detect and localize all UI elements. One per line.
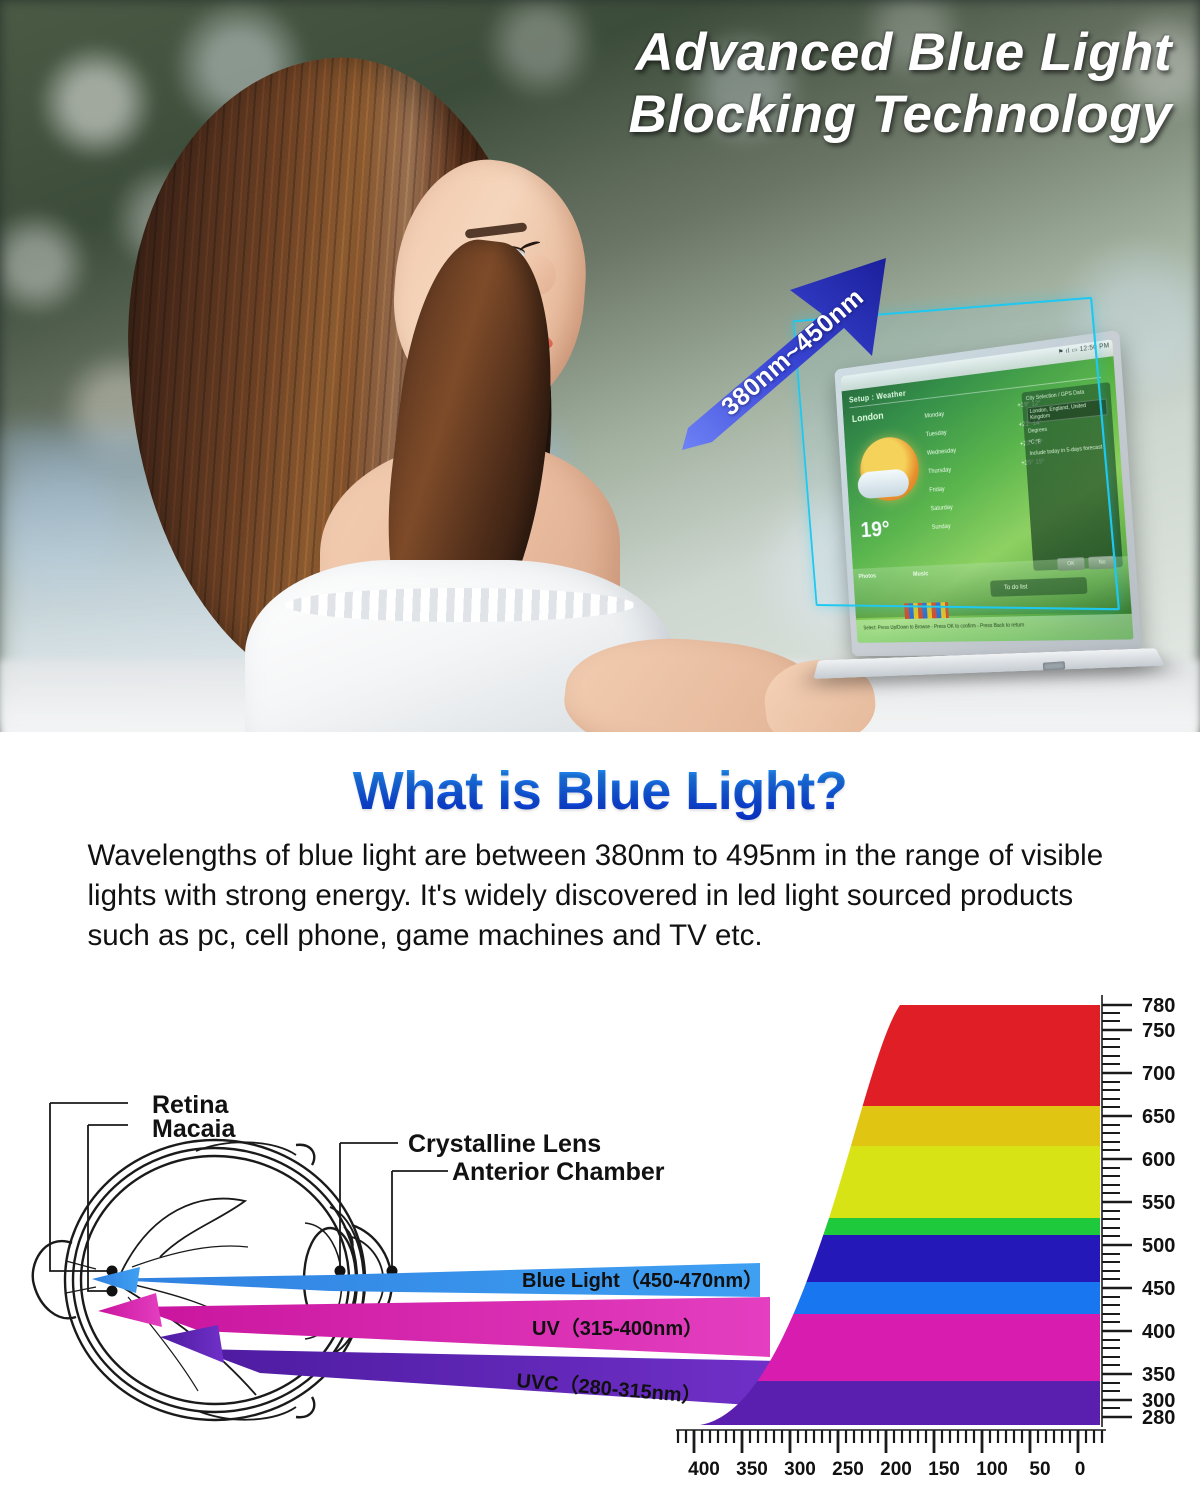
page-title: Advanced Blue Light Blocking Technology bbox=[472, 22, 1172, 146]
label-anterior-chamber: Anterior Chamber bbox=[452, 1158, 665, 1186]
y-tick-label: 650 bbox=[1142, 1106, 1175, 1128]
band-violet bbox=[690, 1381, 1110, 1425]
beam-label-uv: UV（315-400nm） bbox=[532, 1317, 703, 1340]
blue-light-arrow: 380nm~450nm bbox=[672, 252, 922, 472]
beam-label-blue-light: Blue Light（450-470nm） bbox=[522, 1269, 763, 1292]
y-axis bbox=[1102, 995, 1132, 1427]
x-tick-label: 50 bbox=[1029, 1459, 1050, 1480]
retinal-vessel-4 bbox=[132, 1246, 248, 1267]
hero-photo-banner: ⚑ ıl ▭ 12:50 PM Setup : Weather London 1… bbox=[0, 0, 1200, 732]
label-macaia: Macaia bbox=[152, 1115, 236, 1143]
band-yellow bbox=[690, 1146, 1110, 1218]
band-green bbox=[690, 1218, 1110, 1235]
x-tick-labels: 400 350 300 250 200 150 100 50 0 bbox=[688, 1459, 1085, 1480]
leader-macaia bbox=[88, 1125, 112, 1291]
screen-footer-hint: Select: Press Up/Down to Browse - Press … bbox=[856, 614, 1133, 643]
y-tick-label: 600 bbox=[1142, 1149, 1175, 1171]
y-tick-label: 280 bbox=[1142, 1407, 1175, 1429]
band-red bbox=[690, 1005, 1110, 1106]
x-tick-label: 150 bbox=[928, 1459, 960, 1480]
x-tick-label: 300 bbox=[784, 1459, 816, 1480]
x-major-ticks bbox=[694, 1430, 1078, 1453]
headline-line-1: Advanced Blue Light bbox=[472, 22, 1172, 84]
y-tick-label: 550 bbox=[1142, 1192, 1175, 1214]
uv-arrowhead bbox=[98, 1293, 162, 1327]
usb-port bbox=[1043, 661, 1066, 671]
y-tick-label: 750 bbox=[1142, 1020, 1175, 1042]
label-crystalline-lens: Crystalline Lens bbox=[408, 1130, 601, 1158]
x-tick-label: 100 bbox=[976, 1459, 1008, 1480]
y-tick-label: 780 bbox=[1142, 995, 1175, 1017]
section-heading: What is Blue Light? bbox=[0, 732, 1200, 822]
x-tick-label: 0 bbox=[1075, 1459, 1086, 1480]
x-tick-label: 400 bbox=[688, 1459, 720, 1480]
muscle-bottom bbox=[296, 1397, 314, 1417]
y-tick-label: 350 bbox=[1142, 1364, 1175, 1386]
y-tick-label: 450 bbox=[1142, 1278, 1175, 1300]
blouse-ruffle bbox=[285, 588, 635, 622]
x-tick-label: 200 bbox=[880, 1459, 912, 1480]
section-body-text: Wavelengths of blue light are between 38… bbox=[88, 836, 1113, 956]
dot-macaia bbox=[107, 1286, 118, 1297]
y-tick-labels: 780 750 700 650 600 550 500 450 400 350 … bbox=[1142, 995, 1175, 1429]
x-tick-label: 250 bbox=[832, 1459, 864, 1480]
uvc-arrowhead bbox=[160, 1325, 224, 1363]
blue-light-section: What is Blue Light? Wavelengths of blue … bbox=[0, 732, 1200, 990]
x-axis bbox=[676, 1430, 1106, 1453]
x-tick-label: 350 bbox=[736, 1459, 768, 1480]
y-tick-label: 700 bbox=[1142, 1063, 1175, 1085]
optic-nerve bbox=[33, 1241, 76, 1318]
retinal-vessel-1 bbox=[120, 1199, 245, 1275]
diagram-svg: Retina Macaia Crystalline Lens Anterior … bbox=[0, 975, 1200, 1500]
band-gold bbox=[690, 1106, 1110, 1146]
muscle-top bbox=[296, 1145, 314, 1165]
y-tick-label: 400 bbox=[1142, 1321, 1175, 1343]
y-tick-label: 500 bbox=[1142, 1235, 1175, 1257]
eye-and-spectrum-diagram: Retina Macaia Crystalline Lens Anterior … bbox=[0, 975, 1200, 1500]
headline-line-2: Blocking Technology bbox=[472, 84, 1172, 146]
